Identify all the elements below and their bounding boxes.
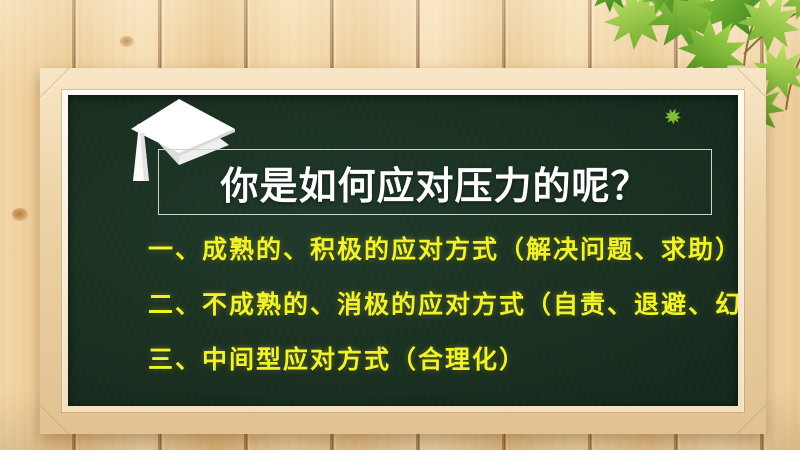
title-box: 你是如何应对压力的呢？ xyxy=(158,149,712,215)
slide-canvas: 你是如何应对压力的呢？ 一、成熟的、积极的应对方式（解决问题、求助） 二、不成熟… xyxy=(0,0,800,450)
bullet-item-1: 一、成熟的、积极的应对方式（解决问题、求助） xyxy=(148,237,708,262)
bullet-item-2: 二、不成熟的、消极的应对方式（自责、退避、幻想） xyxy=(148,292,708,317)
wood-knot xyxy=(120,36,134,47)
maple-leaf-icon xyxy=(662,105,685,128)
wooden-picture-frame: 你是如何应对压力的呢？ 一、成熟的、积极的应对方式（解决问题、求助） 二、不成熟… xyxy=(40,68,766,434)
page-title: 你是如何应对压力的呢？ xyxy=(220,155,649,210)
chalkboard: 你是如何应对压力的呢？ 一、成熟的、积极的应对方式（解决问题、求助） 二、不成熟… xyxy=(68,95,738,406)
bullet-item-3: 三、中间型应对方式（合理化） xyxy=(148,347,708,372)
wood-knot xyxy=(12,208,28,221)
bullet-list: 一、成熟的、积极的应对方式（解决问题、求助） 二、不成熟的、消极的应对方式（自责… xyxy=(148,237,708,372)
